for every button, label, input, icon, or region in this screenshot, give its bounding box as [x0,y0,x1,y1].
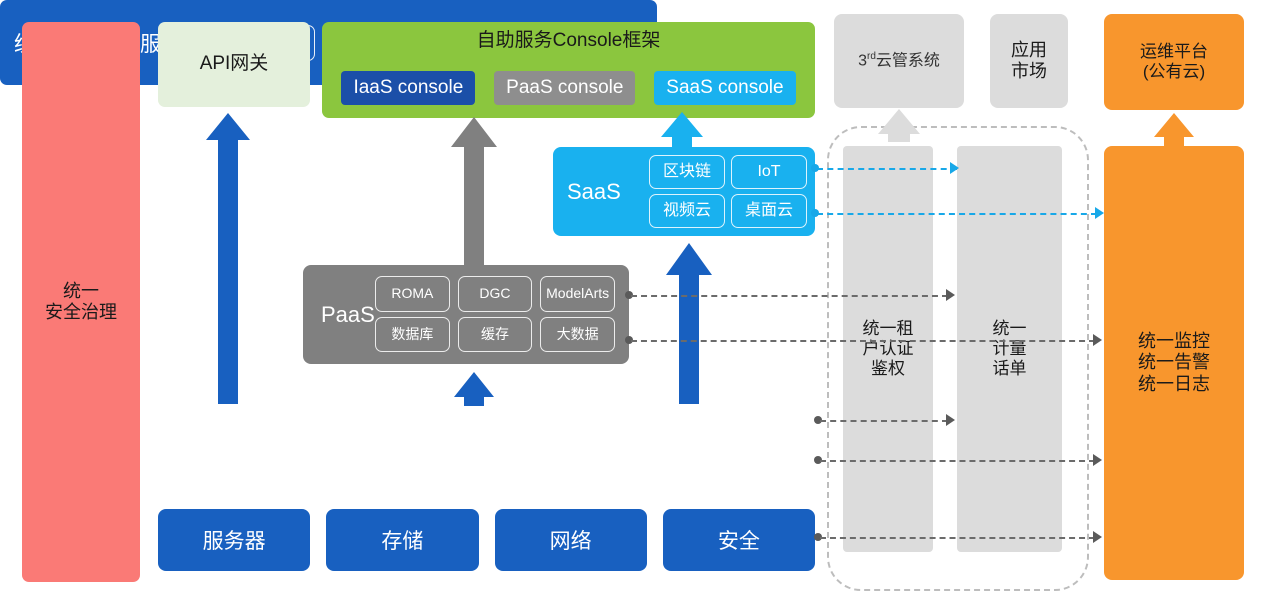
unified-tenant-auth-column[interactable]: 统一租 户认证 鉴权 [843,146,933,552]
paas-service-modelarts[interactable]: ModelArts [540,276,615,312]
hardware-network[interactable]: 网络 [495,509,647,571]
connector-arrow-saas-ops [1095,207,1104,219]
ops-panel-line-3: 统一日志 [1138,374,1210,395]
chip-paas-console[interactable]: PaaS console [494,71,635,105]
self-service-console-framework[interactable]: 自助服务Console框架 IaaS console PaaS console … [322,22,815,118]
paas-console-arrow [451,117,497,265]
infra-to-saas-arrow [666,243,712,404]
ops-platform-line-2: (公有云) [1140,62,1208,82]
third-party-cloud-management-box[interactable]: 3rd云管系统 [834,14,964,108]
chip-iaas-console[interactable]: IaaS console [341,71,475,105]
connector-arrow-paas-ops [1093,334,1102,346]
unified-security-governance-panel[interactable]: 统一 安全治理 [22,22,140,582]
saas-service-grid: 区块链 IoT 视频云 桌面云 [649,155,807,228]
connector-arrow-saas-auth [950,162,959,174]
hardware-security[interactable]: 安全 [663,509,815,571]
connector-arrow-infra-ops [1093,454,1102,466]
saas-service-video-cloud[interactable]: 视频云 [649,194,725,228]
api-gateway-box[interactable]: API网关 [158,22,310,107]
paas-service-dgc[interactable]: DGC [458,276,533,312]
saas-layer-box[interactable]: SaaS 区块链 IoT 视频云 桌面云 [553,147,815,236]
connector-hardware-to-ops [820,537,1095,539]
infra-to-paas-arrow [454,372,494,406]
paas-service-bigdata[interactable]: 大数据 [540,317,615,353]
auth-line-3: 鉴权 [863,359,914,379]
connector-infra-to-auth [820,420,948,422]
app-market-line-1: 应用 [1011,40,1047,61]
unified-metering-billing-column[interactable]: 统一 计量 话单 [957,146,1062,552]
paas-service-database[interactable]: 数据库 [375,317,450,353]
meter-line-3: 话单 [993,359,1027,379]
saas-service-desktop-cloud[interactable]: 桌面云 [731,194,807,228]
connector-paas-to-ops [631,340,1095,342]
ops-panel-line-1: 统一监控 [1138,331,1210,352]
app-market-box[interactable]: 应用 市场 [990,14,1068,108]
connector-arrow-hardware-ops [1093,531,1102,543]
connector-infra-to-ops [820,460,1095,462]
architecture-diagram: 统一 安全治理 API网关 自助服务Console框架 IaaS console… [0,0,1265,605]
auth-line-1: 统一租 [863,319,914,339]
console-framework-title: 自助服务Console框架 [322,30,815,52]
chip-saas-console[interactable]: SaaS console [654,71,795,105]
ops-platform-arrow [1154,113,1194,146]
saas-service-blockchain[interactable]: 区块链 [649,155,725,189]
governance-line-2: 安全治理 [45,302,117,323]
ops-platform-line-1: 运维平台 [1140,42,1208,62]
paas-service-grid: ROMA DGC ModelArts 数据库 缓存 大数据 [375,276,615,352]
governance-line-1: 统一 [45,281,117,302]
unified-monitoring-panel[interactable]: 统一监控 统一告警 统一日志 [1104,146,1244,580]
hardware-server[interactable]: 服务器 [158,509,310,571]
hardware-resource-row: 服务器 存储 网络 安全 [158,509,815,571]
saas-layer-label: SaaS [567,179,621,205]
saas-service-iot[interactable]: IoT [731,155,807,189]
paas-layer-box[interactable]: PaaS ROMA DGC ModelArts 数据库 缓存 大数据 [303,265,629,364]
paas-layer-label: PaaS [321,302,375,328]
meter-line-1: 统一 [993,319,1027,339]
api-gateway-label: API网关 [200,53,269,75]
app-market-line-2: 市场 [1011,61,1047,82]
connector-saas-to-auth [817,168,957,170]
third-party-cloud-label: 3rd云管系统 [858,51,940,71]
connector-paas-to-auth [631,295,948,297]
ops-platform-public-cloud-box[interactable]: 运维平台 (公有云) [1104,14,1244,110]
console-chip-row: IaaS console PaaS console SaaS console [322,67,815,109]
connector-arrow-paas-auth [946,289,955,301]
connector-saas-to-ops [817,213,1097,215]
ops-panel-line-2: 统一告警 [1138,352,1210,373]
hardware-storage[interactable]: 存储 [326,509,478,571]
paas-service-roma[interactable]: ROMA [375,276,450,312]
paas-service-cache[interactable]: 缓存 [458,317,533,353]
connector-arrow-infra-auth [946,414,955,426]
api-gateway-arrow [206,113,250,404]
